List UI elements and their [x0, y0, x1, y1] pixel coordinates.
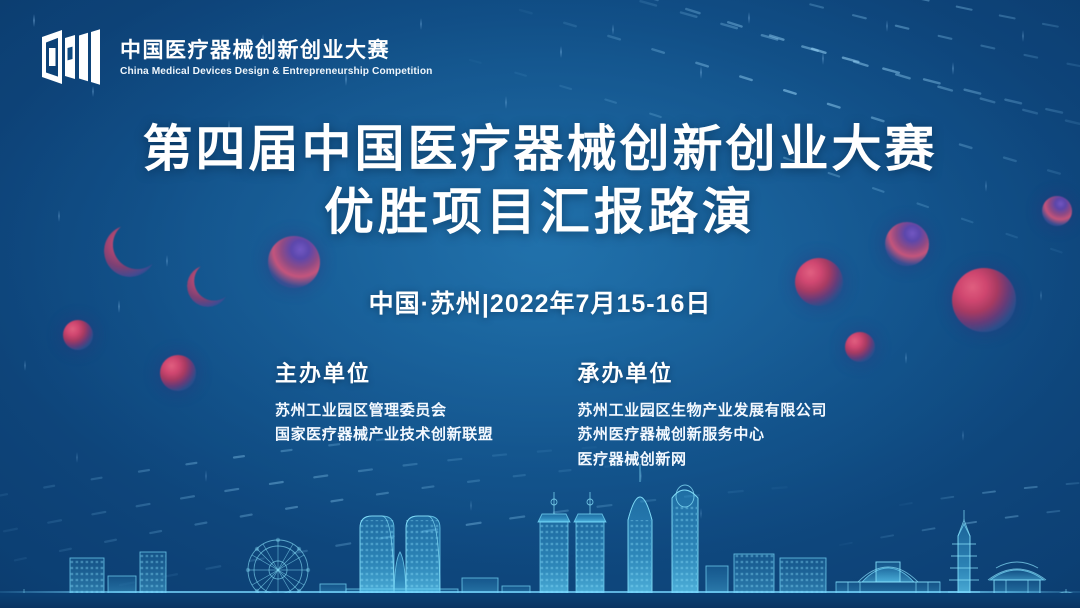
organizer-item: 苏州医疗器械创新服务中心	[577, 423, 827, 447]
organizer-group-coorganizer: 承办单位 苏州工业园区生物产业发展有限公司 苏州医疗器械创新服务中心 医疗器械创…	[577, 356, 827, 472]
organizer-group-host: 主办单位 苏州工业园区管理委员会 国家医疗器械产业技术创新联盟	[275, 356, 493, 448]
brand-name-en: China Medical Devices Design & Entrepren…	[120, 66, 432, 77]
event-poster: 中国医疗器械创新创业大赛 China Medical Devices Desig…	[0, 0, 1080, 608]
poster-content: 第四届中国医疗器械创新创业大赛 优胜项目汇报路演 中国·苏州|2022年7月15…	[0, 0, 1080, 608]
organizer-heading: 承办单位	[577, 356, 827, 388]
organizers-row: 主办单位 苏州工业园区管理委员会 国家医疗器械产业技术创新联盟 承办单位 苏州工…	[253, 356, 827, 472]
competition-logo-lockup: 中国医疗器械创新创业大赛 China Medical Devices Desig…	[36, 26, 442, 88]
title-line-2: 优胜项目汇报路演	[143, 181, 938, 244]
page-title: 第四届中国医疗器械创新创业大赛 优胜项目汇报路演	[143, 118, 938, 244]
title-line-1: 第四届中国医疗器械创新创业大赛	[143, 118, 938, 181]
organizer-item: 国家医疗器械产业技术创新联盟	[275, 423, 493, 447]
organizer-item: 医疗器械创新网	[577, 448, 827, 472]
organizer-heading: 主办单位	[275, 356, 493, 388]
brand-name-cn: 中国医疗器械创新创业大赛	[120, 40, 442, 61]
organizer-item: 苏州工业园区生物产业发展有限公司	[577, 399, 827, 423]
organizer-item: 苏州工业园区管理委员会	[275, 399, 493, 423]
open-door-window-logo-icon	[36, 26, 106, 88]
event-date-location: 中国·苏州|2022年7月15-16日	[369, 284, 712, 320]
